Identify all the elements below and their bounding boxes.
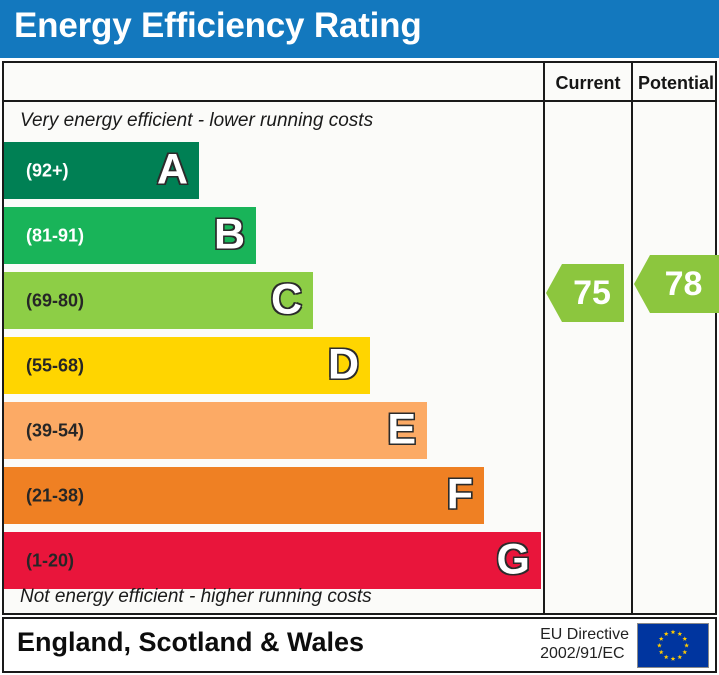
band-letter-b: B xyxy=(214,213,245,256)
band-range-f: (21-38) xyxy=(26,485,84,506)
band-row-a: (92+) A xyxy=(4,139,541,204)
band-range-e: (39-54) xyxy=(26,420,84,441)
band-bar-e: (39-54) E xyxy=(4,402,427,459)
eu-directive-line2: 2002/91/EC xyxy=(540,644,629,663)
column-divider-potential xyxy=(631,63,633,613)
caption-very-efficient: Very energy efficient - lower running co… xyxy=(20,110,373,132)
band-bar-f: (21-38) F xyxy=(4,467,484,524)
band-range-c: (69-80) xyxy=(26,290,84,311)
band-list: (92+) A (81-91) B (69-80) C (55-68) xyxy=(4,139,541,583)
chart-title-bar: Energy Efficiency Rating xyxy=(0,0,719,58)
band-row-g: (1-20) G xyxy=(4,529,541,594)
band-row-d: (55-68) D xyxy=(4,334,541,399)
band-letter-g: G xyxy=(497,538,530,581)
chart-footer: England, Scotland & Wales EU Directive 2… xyxy=(2,617,717,673)
band-letter-c: C xyxy=(271,278,302,321)
band-row-c: (69-80) C xyxy=(4,269,541,334)
band-letter-a: A xyxy=(157,148,188,191)
caption-not-efficient: Not energy efficient - higher running co… xyxy=(20,586,372,608)
band-letter-d: D xyxy=(328,343,359,386)
energy-efficiency-rating-chart: Energy Efficiency Rating Current Potenti… xyxy=(0,0,719,675)
column-divider-current xyxy=(543,63,545,613)
header-divider xyxy=(4,100,715,102)
band-row-e: (39-54) E xyxy=(4,399,541,464)
column-header-potential: Potential xyxy=(633,71,719,95)
column-header-current: Current xyxy=(545,71,631,95)
eu-directive-line1: EU Directive xyxy=(540,625,629,644)
band-letter-e: E xyxy=(387,408,416,451)
band-row-f: (21-38) F xyxy=(4,464,541,529)
band-bar-g: (1-20) G xyxy=(4,532,541,589)
band-range-g: (1-20) xyxy=(26,550,74,571)
band-row-b: (81-91) B xyxy=(4,204,541,269)
band-range-b: (81-91) xyxy=(26,225,84,246)
current-rating-badge: 75 xyxy=(546,264,624,322)
band-bar-d: (55-68) D xyxy=(4,337,370,394)
page-title: Energy Efficiency Rating xyxy=(14,6,422,46)
band-range-a: (92+) xyxy=(26,160,69,181)
potential-rating-badge: 78 xyxy=(634,255,719,313)
band-bar-b: (81-91) B xyxy=(4,207,256,264)
eu-directive-label: EU Directive 2002/91/EC xyxy=(540,625,629,663)
eu-flag-icon xyxy=(637,623,709,668)
band-letter-f: F xyxy=(447,473,473,516)
region-label: England, Scotland & Wales xyxy=(17,627,364,658)
potential-rating-value: 78 xyxy=(665,265,703,304)
rating-table: Current Potential Very energy efficient … xyxy=(2,61,717,615)
band-range-d: (55-68) xyxy=(26,355,84,376)
band-bar-a: (92+) A xyxy=(4,142,199,199)
band-bar-c: (69-80) C xyxy=(4,272,313,329)
current-rating-value: 75 xyxy=(573,274,611,313)
